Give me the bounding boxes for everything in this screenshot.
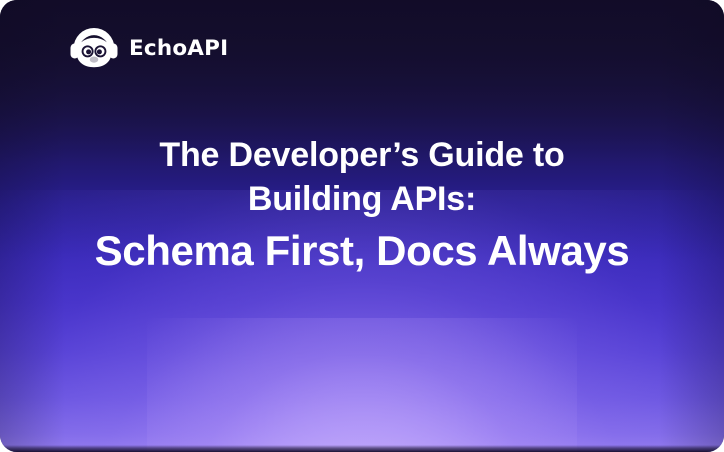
- title-card: EchoAPI The Developer’s Guide to Buildin…: [0, 0, 724, 452]
- headline-line-3: Schema First, Docs Always: [24, 223, 700, 279]
- echoapi-panda-headphones-logo-icon: [68, 23, 120, 75]
- headline: The Developer’s Guide to Building APIs: …: [0, 133, 724, 279]
- brand-wordmark: EchoAPI: [129, 38, 228, 60]
- brand-logo[interactable]: EchoAPI: [68, 23, 228, 75]
- background-bottom-band: [0, 445, 724, 452]
- headline-line-2: Building APIs:: [24, 177, 700, 221]
- headline-line-1: The Developer’s Guide to: [24, 133, 700, 177]
